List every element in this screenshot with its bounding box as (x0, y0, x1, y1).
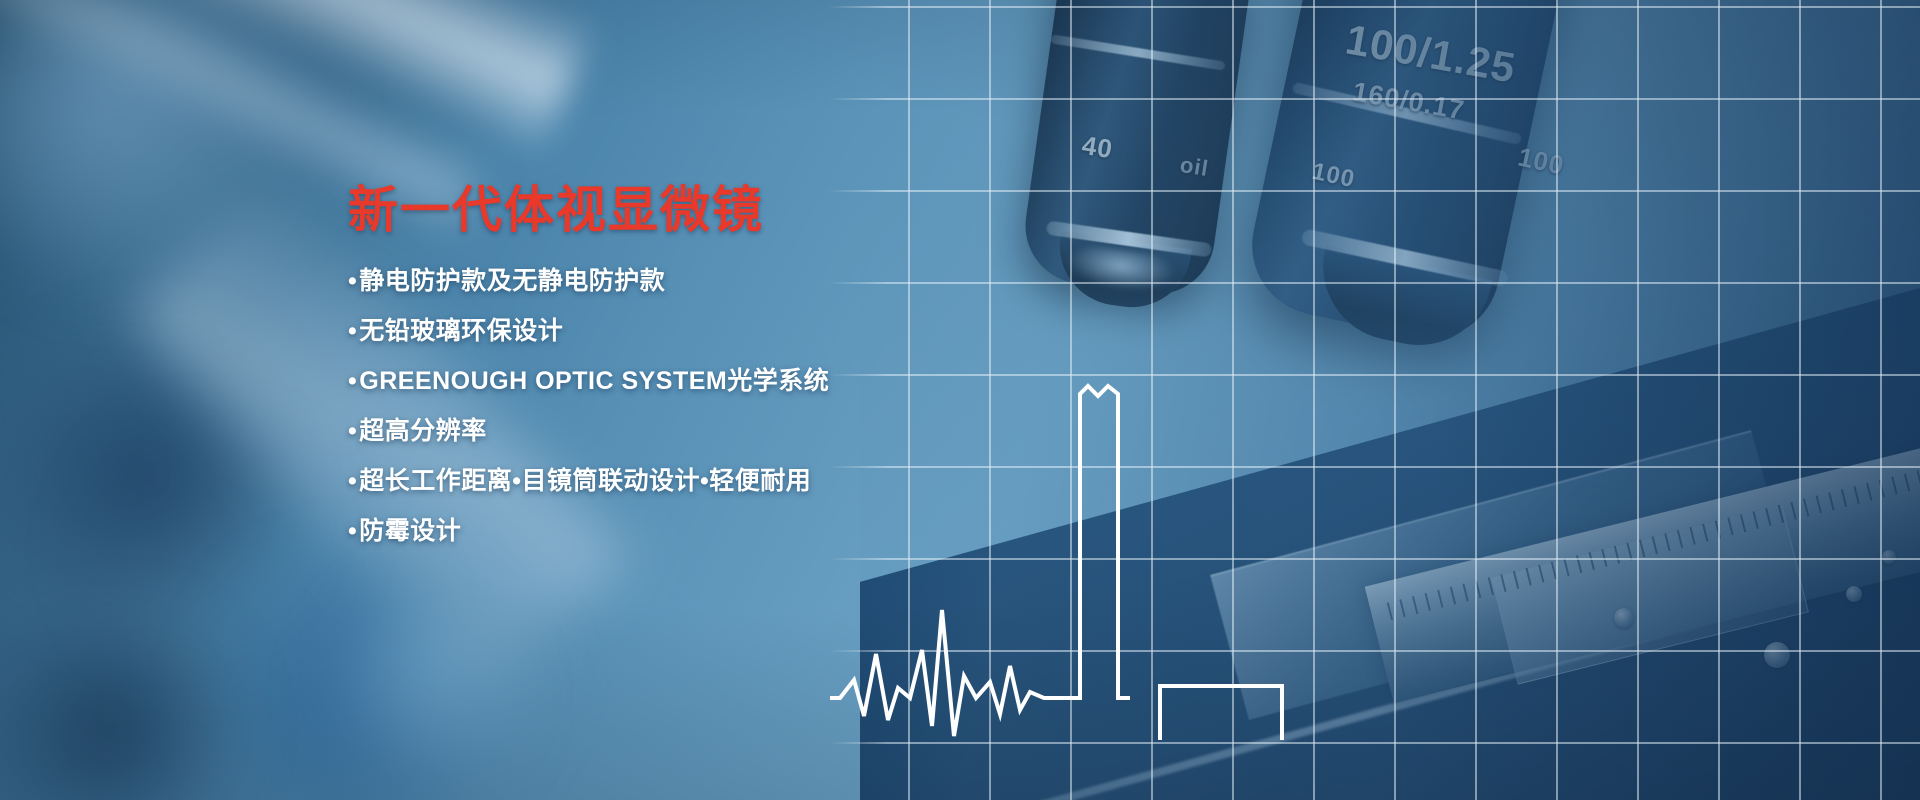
list-item: • 超高分辨率 (348, 419, 988, 444)
text-content: 新一代体视显微镜 • 静电防护款及无静电防护款 • 无铅玻璃环保设计 • GRE… (348, 185, 988, 569)
bullet-marker-icon: • (348, 519, 357, 544)
list-item: • 防霉设计 (348, 519, 988, 544)
list-item-label: 超高分辨率 (359, 419, 487, 444)
list-item-label: GREENOUGH OPTIC SYSTEM光学系统 (359, 369, 829, 394)
list-item-label: 超长工作距离•目镜筒联动设计•轻便耐用 (359, 469, 811, 494)
page-title: 新一代体视显微镜 (348, 185, 988, 235)
list-item-label: 防霉设计 (359, 519, 461, 544)
bullet-marker-icon: • (348, 319, 357, 344)
list-item: • GREENOUGH OPTIC SYSTEM光学系统 (348, 369, 988, 394)
list-item-label: 静电防护款及无静电防护款 (359, 269, 665, 294)
bullet-marker-icon: • (348, 419, 357, 444)
bullet-marker-icon: • (348, 469, 357, 494)
list-item: • 无铅玻璃环保设计 (348, 319, 988, 344)
hero-banner: 100/1.25 160/0.17 40 oil 100 100 新一代体视显微… (0, 0, 1920, 800)
list-item: • 静电防护款及无静电防护款 (348, 269, 988, 294)
bullet-marker-icon: • (348, 269, 357, 294)
bullet-marker-icon: • (348, 369, 357, 394)
list-item: • 超长工作距离•目镜筒联动设计•轻便耐用 (348, 469, 988, 494)
feature-list: • 静电防护款及无静电防护款 • 无铅玻璃环保设计 • GREENOUGH OP… (348, 269, 988, 544)
list-item-label: 无铅玻璃环保设计 (359, 319, 563, 344)
